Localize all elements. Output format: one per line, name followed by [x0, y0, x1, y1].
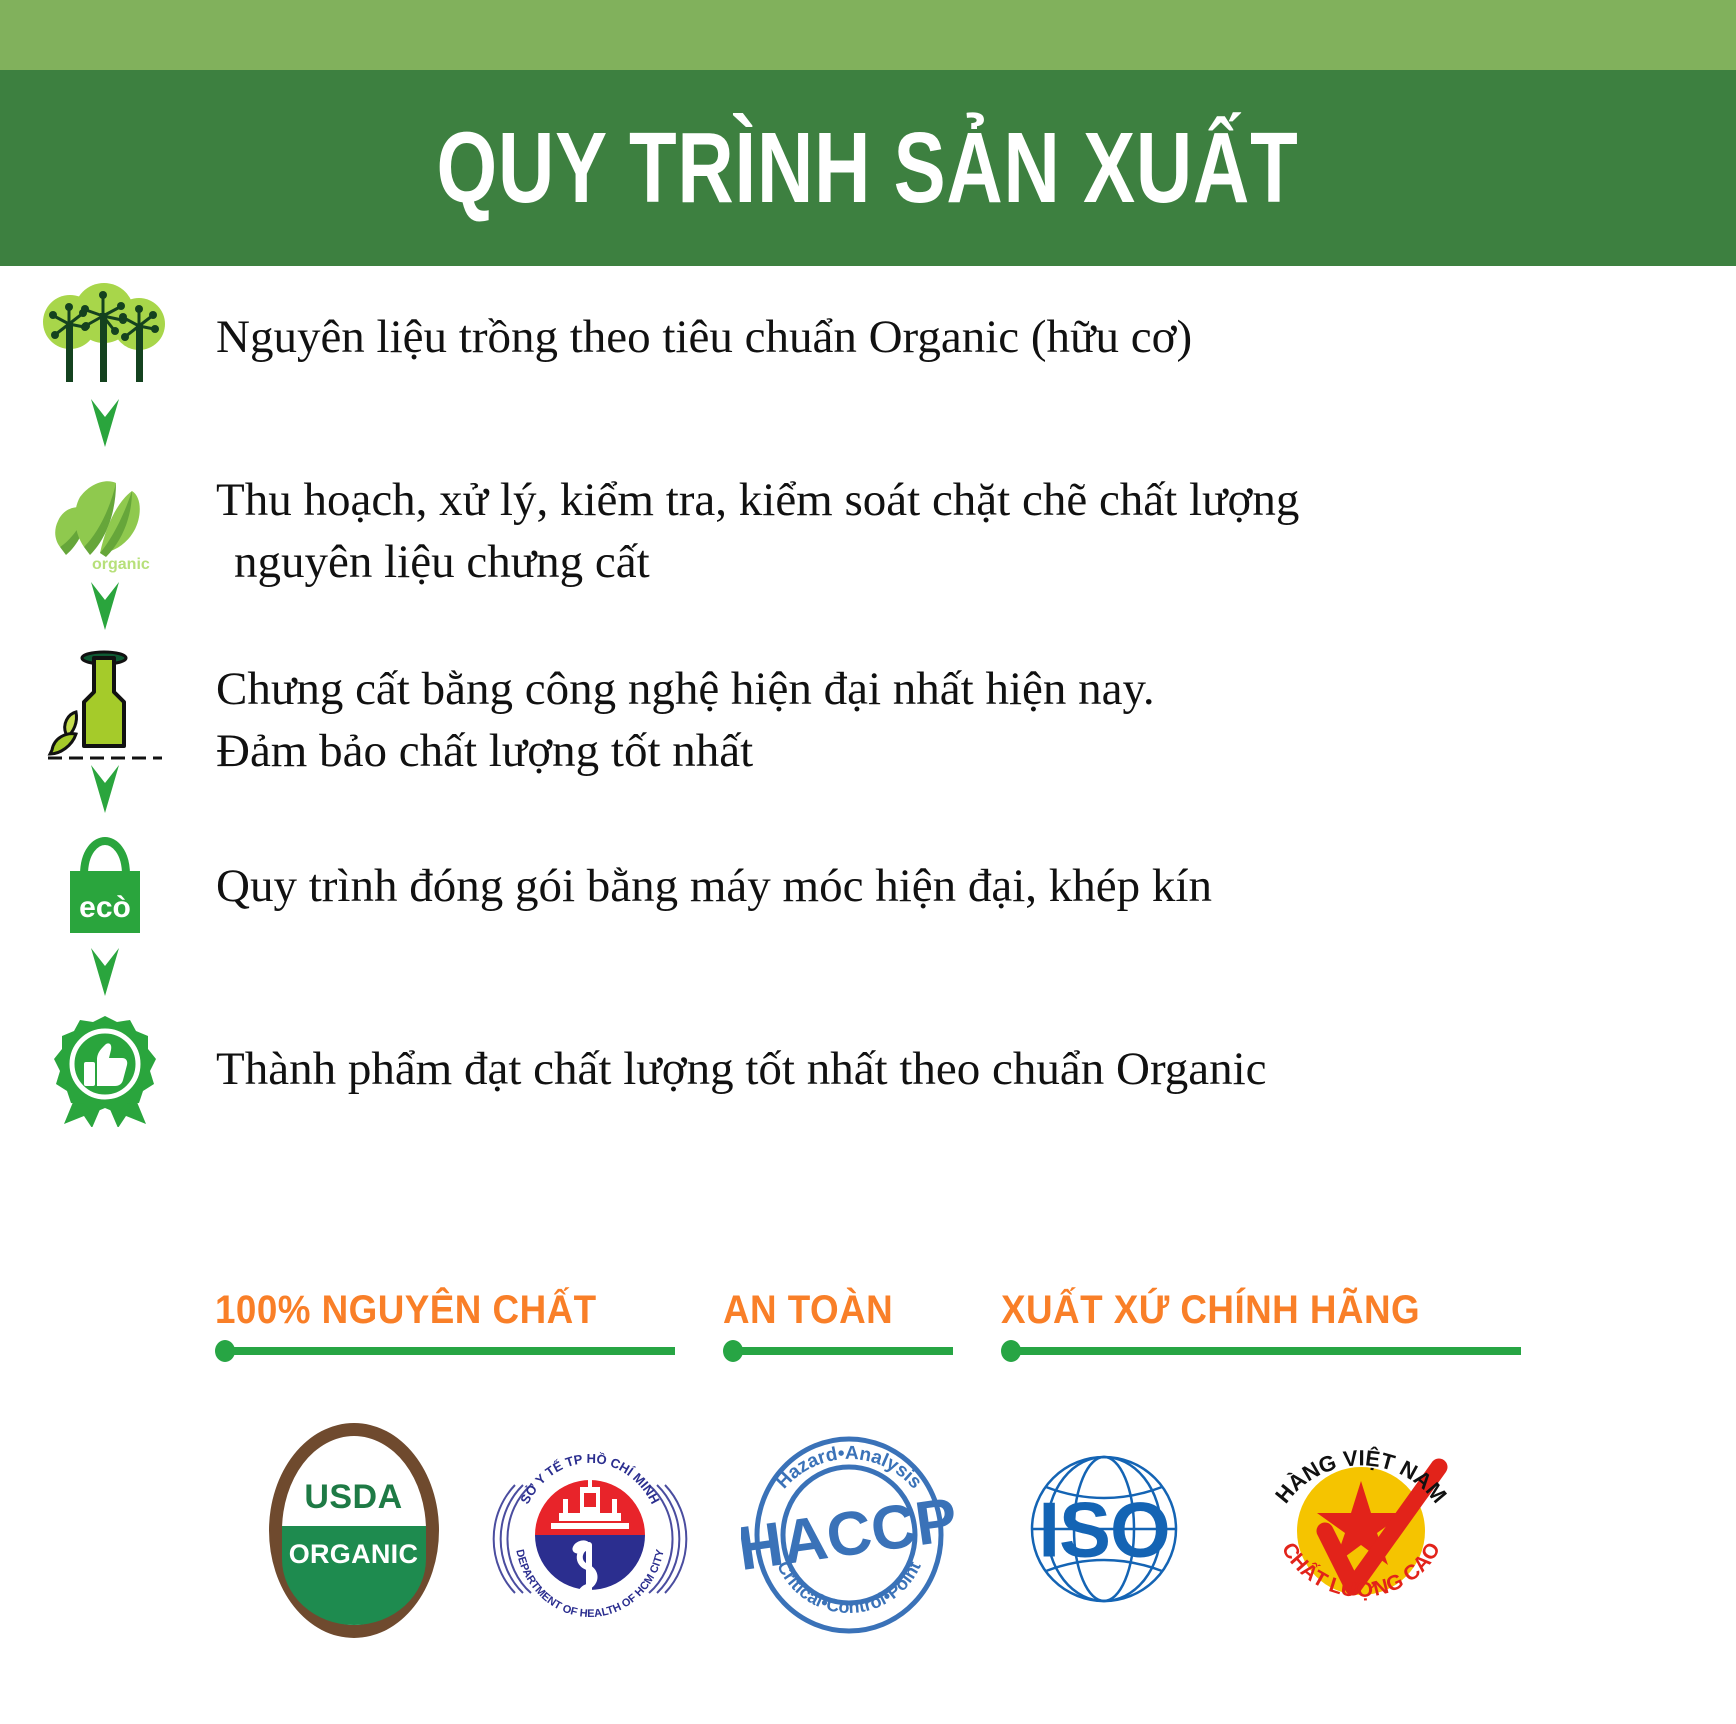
iso-logo: ISO	[1002, 1443, 1207, 1618]
step-2-text: Thu hoạch, xử lý, kiểm tra, kiểm soát ch…	[210, 463, 1736, 593]
step-4-line-1: Quy trình đóng gói bằng máy móc hiện đại…	[216, 855, 1696, 917]
feature-2-rule	[723, 1340, 953, 1362]
feature-2-label: AN TOÀN	[723, 1288, 893, 1333]
usda-bottom-text: ORGANIC	[269, 1539, 439, 1570]
process-steps-list: Nguyên liệu trồng theo tiêu chuẩn Organi…	[0, 280, 1736, 1127]
oil-bottle-icon	[40, 646, 170, 761]
feature-1-line	[233, 1347, 675, 1355]
step-3-line-1: Chưng cất bằng công nghệ hiện đại nhất h…	[216, 658, 1696, 720]
step-4-icon-column: ecò	[0, 829, 210, 1004]
usda-top-text: USDA	[269, 1478, 439, 1517]
feature-3-rule	[1001, 1340, 1521, 1362]
process-step-1: Nguyên liệu trồng theo tiêu chuẩn Organi…	[0, 280, 1736, 455]
step-3-line-2: Đảm bảo chất lượng tốt nhất	[216, 720, 1696, 782]
feature-2: AN TOÀN	[723, 1288, 953, 1362]
step-5-text: Thành phẩm đạt chất lượng tốt nhất theo …	[210, 1012, 1736, 1100]
certification-logos: USDA ORGANIC	[0, 1400, 1736, 1660]
step-2-line-1: Thu hoạch, xử lý, kiểm tra, kiểm soát ch…	[216, 469, 1696, 531]
step-1-text: Nguyên liệu trồng theo tiêu chuẩn Organi…	[210, 280, 1736, 368]
so-y-te-tp-hcm-logo: SỞ Y TẾ TP HỒ CHÍ MINH DEPARTMENT OF HEA…	[485, 1423, 695, 1638]
step-5-icon-column	[0, 1012, 210, 1127]
three-trees-icon	[40, 280, 170, 395]
step-1-arrow	[88, 395, 122, 455]
step-2-icon-column: organic	[0, 463, 210, 638]
process-step-4: ecò Quy trình đóng gói bằng máy móc hiện…	[0, 829, 1736, 1004]
process-step-5: Thành phẩm đạt chất lượng tốt nhất theo …	[0, 1012, 1736, 1127]
step-5-line-1: Thành phẩm đạt chất lượng tốt nhất theo …	[216, 1038, 1696, 1100]
step-1-line-1: Nguyên liệu trồng theo tiêu chuẩn Organi…	[216, 306, 1696, 368]
feature-3: XUẤT XỨ CHÍNH HÃNG	[1001, 1288, 1521, 1362]
organic-leaves-icon: organic	[40, 463, 170, 578]
feature-1-label: 100% NGUYÊN CHẤT	[215, 1288, 597, 1333]
feature-1-dot	[215, 1340, 235, 1362]
step-4-text: Quy trình đóng gói bằng máy móc hiện đại…	[210, 829, 1736, 917]
organic-icon-label: organic	[92, 556, 150, 573]
feature-3-label-wrap: XUẤT XỨ CHÍNH HÃNG	[1001, 1288, 1457, 1333]
feature-2-line	[741, 1347, 953, 1355]
infographic-page: QUY TRÌNH SẢN XUẤT	[0, 0, 1736, 1724]
process-step-3: Chưng cất bằng công nghệ hiện đại nhất h…	[0, 646, 1736, 821]
header-light-band	[0, 0, 1736, 70]
feature-1-label-wrap: 100% NGUYÊN CHẤT	[215, 1288, 630, 1333]
quality-badge-thumbs-up-icon	[40, 1012, 170, 1127]
feature-1-rule	[215, 1340, 675, 1362]
step-3-arrow	[88, 761, 122, 821]
usda-organic-logo: USDA ORGANIC	[269, 1423, 439, 1638]
haccp-center-text: HACCP	[741, 1485, 956, 1584]
eco-bag-label: ecò	[79, 891, 131, 924]
step-3-icon-column	[0, 646, 210, 821]
page-title-text: QUY TRÌNH SẢN XUẤT	[437, 111, 1299, 226]
process-step-2: organic Thu hoạch, xử lý, kiểm tra, kiểm…	[0, 463, 1736, 638]
feature-1: 100% NGUYÊN CHẤT	[215, 1288, 675, 1362]
step-3-text: Chưng cất bằng công nghệ hiện đại nhất h…	[210, 646, 1736, 782]
haccp-logo: Hazard•Analysis Critical•Control•Point H…	[741, 1423, 956, 1638]
step-2-line-2: nguyên liệu chưng cất	[216, 531, 1696, 593]
feature-highlights: 100% NGUYÊN CHẤT AN TOÀN XUẤT XỨ CHÍNH H…	[0, 1288, 1736, 1362]
feature-3-line	[1019, 1347, 1521, 1355]
eco-bag-icon: ecò	[40, 829, 170, 944]
feature-3-dot	[1001, 1340, 1021, 1362]
feature-2-label-wrap: AN TOÀN	[723, 1288, 908, 1333]
feature-3-label: XUẤT XỨ CHÍNH HÃNG	[1001, 1288, 1420, 1333]
feature-2-dot	[723, 1340, 743, 1362]
step-1-icon-column	[0, 280, 210, 455]
page-title: QUY TRÌNH SẢN XUẤT	[0, 70, 1736, 266]
iso-center-text: ISO	[1002, 1485, 1207, 1576]
step-4-arrow	[88, 944, 122, 1004]
step-2-arrow	[88, 578, 122, 638]
hang-viet-nam-chat-luong-cao-logo: HÀNG VIỆT NAM CHẤT LƯỢNG CAO	[1253, 1423, 1468, 1638]
